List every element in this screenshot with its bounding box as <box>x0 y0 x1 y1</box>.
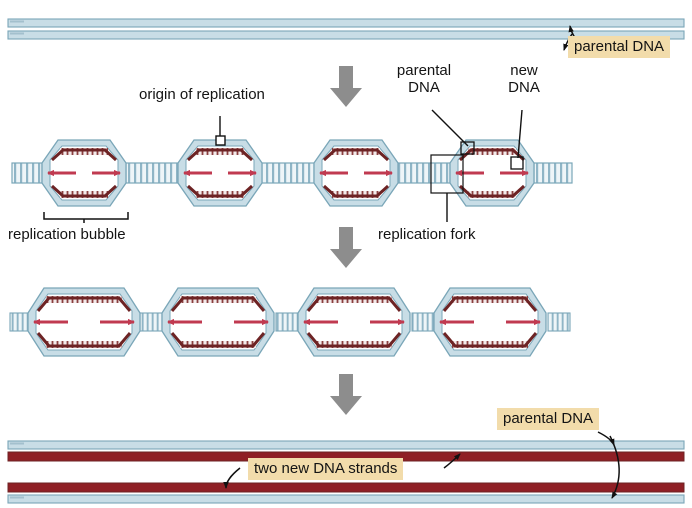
label-parental-dna-top: parental DNA <box>568 36 670 58</box>
label-origin-of-replication: origin of replication <box>139 86 265 103</box>
expanded-bubble-3 <box>298 288 410 356</box>
label-new-dna-callout-line2: DNA <box>494 79 554 96</box>
replication-bubble-2 <box>178 136 262 206</box>
daughter-b-new-strand <box>8 483 684 492</box>
label-parental-dna-callout-line2: DNA <box>386 79 462 96</box>
brace-replication-bubble <box>44 212 128 223</box>
stage-2-early-replication-bubbles <box>12 136 572 206</box>
dna-replication-figure: parental DNA origin of replication paren… <box>0 0 692 508</box>
expanded-bubble-1 <box>28 288 140 356</box>
arrow-stage1-to-stage2 <box>330 66 362 107</box>
origin-of-replication-marker <box>216 136 225 145</box>
arrow-stage3-to-stage4 <box>330 374 362 415</box>
daughter-a-parental-strand <box>8 441 684 449</box>
leader-parental-dna-callout <box>432 110 468 146</box>
arrow-stage2-to-stage3 <box>330 227 362 268</box>
label-new-dna-callout-line1: new <box>494 62 554 79</box>
replication-bubble-3 <box>314 140 398 206</box>
label-parental-dna-bottom: parental DNA <box>497 408 599 430</box>
replication-bubble-1 <box>42 140 126 206</box>
label-replication-fork: replication fork <box>378 226 476 243</box>
label-parental-dna-callout-line1: parental <box>386 62 462 79</box>
label-two-new-dna-strands: two new DNA strands <box>248 458 403 480</box>
daughter-b-parental-strand <box>8 495 684 503</box>
expanded-bubble-4 <box>434 288 546 356</box>
label-new-dna-callout: new DNA <box>494 62 554 97</box>
dna-replication-artwork <box>0 0 692 508</box>
label-replication-bubble: replication bubble <box>8 226 126 243</box>
expanded-bubble-2 <box>162 288 274 356</box>
label-parental-dna-callout: parental DNA <box>386 62 462 97</box>
stage-3-expanded-replication-bubbles <box>10 288 570 356</box>
